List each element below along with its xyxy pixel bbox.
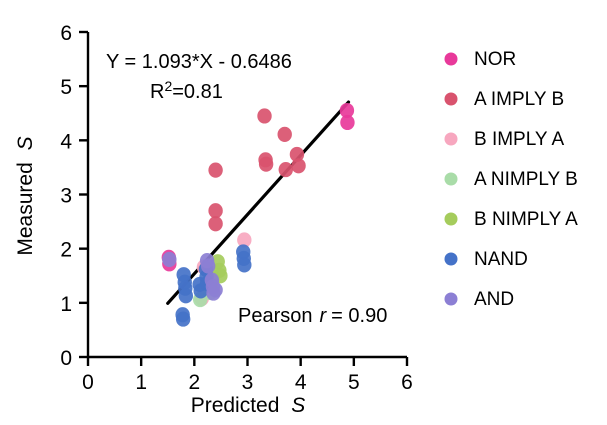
data-point bbox=[179, 288, 193, 303]
scatter-plot-figure: 0123456 0123456 Predicted S Measured S Y… bbox=[0, 0, 607, 425]
legend-swatch-icon bbox=[445, 253, 458, 266]
y-tick-label-5: 5 bbox=[60, 76, 72, 99]
legend-item-nand[interactable]: NAND bbox=[445, 249, 528, 270]
data-point bbox=[237, 257, 251, 272]
y-tick-label-6: 6 bbox=[60, 22, 72, 45]
y-axis-ticks bbox=[79, 32, 88, 357]
legend-swatch-icon bbox=[445, 133, 458, 146]
pearson-symbol: r bbox=[320, 305, 328, 327]
fit-line bbox=[168, 102, 349, 303]
y-tick-label-1: 1 bbox=[60, 293, 72, 316]
legend-item-label: A NIMPLY B bbox=[474, 169, 578, 190]
pearson-annotation: Pearsonr= 0.90 bbox=[238, 305, 387, 327]
data-point bbox=[340, 115, 354, 130]
y-tick-label-0: 0 bbox=[60, 347, 72, 370]
legend: NORA IMPLY BB IMPLY AA NIMPLY BB NIMPLY … bbox=[445, 49, 579, 310]
x-axis-title: Predicted S bbox=[191, 394, 306, 417]
x-tick-label-2: 2 bbox=[188, 371, 200, 394]
legend-item-a-nimply-b[interactable]: A NIMPLY B bbox=[445, 169, 578, 190]
data-point bbox=[208, 203, 222, 218]
data-point bbox=[259, 157, 273, 172]
data-point bbox=[162, 252, 176, 267]
legend-item-label: B IMPLY A bbox=[474, 129, 564, 150]
x-tick-label-5: 5 bbox=[348, 371, 360, 394]
legend-item-label: A IMPLY B bbox=[474, 89, 564, 110]
legend-swatch-icon bbox=[445, 93, 458, 106]
y-tick-label-2: 2 bbox=[60, 239, 72, 262]
data-point bbox=[208, 163, 222, 178]
legend-swatch-icon bbox=[445, 53, 458, 66]
data-point bbox=[279, 162, 293, 177]
svg-text:Predicted S: Predicted S bbox=[191, 394, 306, 417]
data-point bbox=[291, 158, 305, 173]
regression-equation-annotation: Y = 1.093*X - 0.6486 bbox=[106, 51, 292, 73]
pearson-prefix: Pearson bbox=[238, 305, 313, 327]
pearson-value: = 0.90 bbox=[331, 305, 387, 327]
legend-swatch-icon bbox=[445, 213, 458, 226]
data-point bbox=[201, 258, 215, 273]
x-tick-label-6: 6 bbox=[401, 371, 413, 394]
x-axis-title-symbol: S bbox=[291, 394, 305, 417]
r-squared-annotation: R2=0.81 bbox=[150, 78, 223, 103]
legend-item-label: NOR bbox=[474, 49, 516, 70]
y-axis-title: Measured S bbox=[14, 136, 37, 255]
legend-item-b-nimply-a[interactable]: B NIMPLY A bbox=[445, 209, 579, 230]
y-axis-title-text: Measured bbox=[14, 162, 37, 255]
legend-item-label: B NIMPLY A bbox=[474, 209, 578, 230]
r-squared-exponent: 2 bbox=[164, 78, 172, 94]
plot-svg: 0123456 0123456 Predicted S Measured S Y… bbox=[0, 0, 607, 425]
y-axis-tick-labels: 0123456 bbox=[60, 22, 72, 370]
legend-item-b-imply-a[interactable]: B IMPLY A bbox=[445, 129, 565, 150]
y-tick-label-4: 4 bbox=[60, 130, 72, 153]
series-a-imply-b bbox=[208, 108, 305, 231]
legend-item-a-imply-b[interactable]: A IMPLY B bbox=[445, 89, 565, 110]
legend-item-label: AND bbox=[474, 289, 514, 310]
data-point bbox=[208, 282, 222, 297]
r-squared-prefix: R bbox=[150, 81, 164, 103]
r-squared-value: =0.81 bbox=[172, 81, 223, 103]
y-tick-label-3: 3 bbox=[60, 185, 72, 208]
legend-swatch-icon bbox=[445, 173, 458, 186]
y-axis-title-symbol: S bbox=[14, 136, 37, 150]
data-point bbox=[176, 311, 190, 326]
x-axis-ticks bbox=[88, 357, 407, 366]
data-point bbox=[257, 108, 271, 123]
legend-item-and[interactable]: AND bbox=[445, 289, 515, 310]
legend-item-nor[interactable]: NOR bbox=[445, 49, 517, 70]
data-point bbox=[278, 127, 292, 142]
data-point bbox=[208, 216, 222, 231]
data-points-layer bbox=[162, 103, 355, 327]
x-axis-tick-labels: 0123456 bbox=[82, 371, 413, 394]
x-tick-label-4: 4 bbox=[295, 371, 307, 394]
x-axis-title-text: Predicted bbox=[191, 394, 280, 417]
x-tick-label-0: 0 bbox=[82, 371, 94, 394]
x-tick-label-1: 1 bbox=[135, 371, 147, 394]
legend-item-label: NAND bbox=[474, 249, 528, 270]
legend-swatch-icon bbox=[445, 293, 458, 306]
svg-text:Measured S: Measured S bbox=[14, 136, 37, 255]
x-tick-label-3: 3 bbox=[242, 371, 254, 394]
regression-fit-line bbox=[168, 102, 349, 303]
